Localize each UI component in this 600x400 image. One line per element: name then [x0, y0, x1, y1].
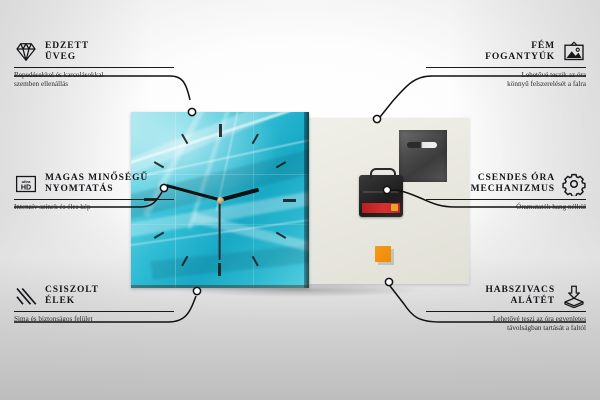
- tick-3: [220, 199, 296, 201]
- callout-head: ultra HD MAGAS MINŐSÉGŰ NYOMTATÁS: [14, 172, 174, 196]
- ultra-hd-icon: ultra HD: [14, 172, 38, 196]
- callout-high-quality-print: ultra HD MAGAS MINŐSÉGŰ NYOMTATÁS Intenz…: [14, 172, 174, 212]
- callout-desc-line1: Óramutatók hang nélkül: [426, 203, 586, 212]
- callout-title-line2: ÉLEK: [45, 296, 99, 308]
- callout-head: CSISZOLT ÉLEK: [14, 284, 174, 308]
- clock-mechanism: [359, 175, 403, 217]
- callout-head: HABSZIVACS ALÁTÉT: [426, 284, 586, 308]
- tick-12: [219, 124, 221, 200]
- second-hand: [219, 200, 221, 260]
- gear-icon: [562, 172, 586, 196]
- callout-desc-line1: Lehetővé teszi az óra egyenletes: [426, 315, 586, 324]
- callout-head: FÉM FOGANTYÚK: [426, 40, 586, 64]
- foam-spacer-pad: [375, 246, 391, 262]
- infographic-canvas: EDZETT ÜVEG Repedésekkel és karcolásokka…: [0, 0, 600, 400]
- callout-title-line1: CSENDES ÓRA: [471, 173, 555, 185]
- callout-rule: [14, 311, 174, 312]
- mechanism-loop: [370, 168, 396, 179]
- callout-desc-line2: szemben ellenállás: [14, 80, 174, 89]
- beveled-edges-icon: [14, 284, 38, 308]
- glass-edge: [304, 112, 309, 288]
- callout-foam-backing: HABSZIVACS ALÁTÉT Lehetővé teszi az óra …: [426, 284, 586, 333]
- callout-rule: [14, 199, 174, 200]
- callout-tempered-glass: EDZETT ÜVEG Repedésekkel és karcolásokka…: [14, 40, 174, 89]
- callout-title-line1: HABSZIVACS: [485, 285, 555, 297]
- mechanism-stripe: [363, 191, 399, 193]
- callout-title-line2: FOGANTYÚK: [485, 52, 555, 64]
- callout-title-line1: MAGAS MINŐSÉGŰ: [45, 173, 148, 185]
- callout-rule: [426, 67, 586, 68]
- callout-head: CSENDES ÓRA MECHANIZMUS: [426, 172, 586, 196]
- callout-desc-line1: Intenzív színek és éles kép: [14, 203, 174, 212]
- svg-text:HD: HD: [21, 184, 31, 192]
- callout-title-line2: ÜVEG: [45, 52, 89, 64]
- callout-title-line2: MECHANIZMUS: [471, 184, 555, 196]
- callout-head: EDZETT ÜVEG: [14, 40, 174, 64]
- callout-rule: [14, 67, 174, 68]
- battery-label: [362, 203, 400, 213]
- callout-title-line2: NYOMTATÁS: [45, 184, 148, 196]
- battery-plus: [391, 204, 398, 211]
- callout-title-line1: EDZETT: [45, 41, 89, 53]
- callout-desc-line1: Repedésekkel és karcolásokkal: [14, 71, 174, 80]
- callout-polished-edges: CSISZOLT ÉLEK Sima és biztonságos felüle…: [14, 284, 174, 324]
- hanger-slot: [407, 142, 437, 148]
- foam-pad-arrow-icon: [562, 284, 586, 308]
- callout-desc-line1: Lehetővé teszik az óra: [426, 71, 586, 80]
- callout-title-line2: ALÁTÉT: [485, 296, 555, 308]
- callout-rule: [426, 199, 586, 200]
- hands-pin: [217, 197, 224, 204]
- product-group: [131, 112, 469, 290]
- diamond-icon: [14, 40, 38, 64]
- callout-metal-handles: FÉM FOGANTYÚK Lehetővé teszik az óra kön…: [426, 40, 586, 89]
- picture-hanger-icon: [562, 40, 586, 64]
- callout-silent-mechanism: CSENDES ÓRA MECHANIZMUS Óramutatók hang …: [426, 172, 586, 212]
- callout-desc-line2: könnyű felszerelését a falra: [426, 80, 586, 89]
- callout-desc-line2: távolságban tartását a faltól: [426, 324, 586, 333]
- callout-title-line1: FÉM: [485, 41, 555, 53]
- callout-desc-line1: Sima és biztonságos felület: [14, 315, 174, 324]
- callout-rule: [426, 311, 586, 312]
- callout-title-line1: CSISZOLT: [45, 285, 99, 297]
